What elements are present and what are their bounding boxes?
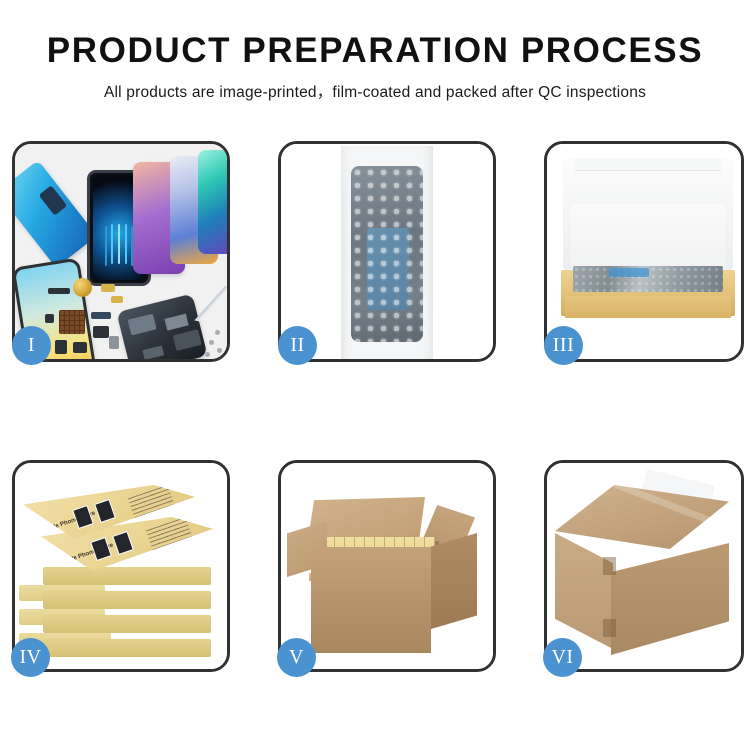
box-screen-swatch [90, 537, 112, 561]
mailer-front-panel-icon [565, 296, 731, 318]
phone-blue-back-icon [15, 160, 97, 268]
step-panel-carton-filled[interactable]: V [278, 460, 496, 672]
step-cell-3: III [544, 141, 744, 362]
carton-handle-tab-icon [603, 619, 616, 637]
page-subtitle: All products are image-printed，film-coat… [0, 80, 750, 102]
step-panel-bubble-wrap[interactable]: II [278, 141, 496, 362]
box-screen-swatch [94, 499, 116, 523]
carton-side-face-icon [431, 533, 477, 629]
chip-grid-part-icon [59, 310, 85, 334]
carton-right-face-icon [611, 543, 729, 655]
step-cell-6: VI [544, 460, 744, 672]
step-panel-carton-sealed[interactable]: VI [544, 460, 744, 672]
step-badge-1: I [12, 326, 51, 365]
box-screen-swatch [112, 531, 134, 555]
step-panel-inner-box[interactable]: III [544, 141, 744, 362]
screw-icon [215, 330, 220, 335]
spare-part-icon [45, 314, 54, 323]
carton-front-face-icon [311, 547, 431, 653]
page-title: PRODUCT PREPARATION PROCESS [0, 30, 750, 71]
spare-part-icon [111, 296, 123, 303]
spare-part-icon [101, 284, 115, 292]
step-panel-stacked-boxes[interactable]: Mobile Phone Spare Parts Mobile Phone Sp… [12, 460, 230, 672]
step-image-carton-sealed [547, 463, 741, 669]
step-image-stacked-boxes: Mobile Phone Spare Parts Mobile Phone Sp… [15, 463, 227, 669]
step-badge-4: IV [11, 638, 50, 677]
box-spec-lines [128, 485, 176, 523]
spare-part-icon [48, 288, 70, 294]
spare-part-icon [73, 342, 87, 353]
step-cell-5: V [278, 460, 496, 672]
step-badge-2: II [278, 326, 317, 365]
box-layer-icon [43, 591, 211, 609]
step-image-products [15, 144, 227, 359]
tweezers-icon [189, 280, 227, 327]
screw-icon [217, 348, 222, 353]
step-cell-2: II [278, 141, 496, 362]
box-stack-icon: Mobile Phone Spare Parts Mobile Phone Sp… [15, 463, 227, 669]
box-spec-lines [146, 517, 194, 555]
box-layer-icon [43, 615, 211, 633]
step-image-inner-box [547, 144, 741, 359]
step-panel-products[interactable]: I [12, 141, 230, 362]
blue-label-icon [609, 268, 649, 277]
step-cell-1: I [12, 141, 230, 362]
page-header: PRODUCT PREPARATION PROCESS All products… [0, 0, 750, 102]
box-layer-icon [43, 567, 211, 585]
step-badge-3: III [544, 326, 583, 365]
spare-part-icon [91, 312, 111, 319]
screw-icon [205, 352, 210, 357]
product-preparation-page: PRODUCT PREPARATION PROCESS All products… [0, 0, 750, 750]
box-layer-icon [43, 639, 211, 657]
spare-part-icon [55, 340, 67, 354]
step-cell-4: Mobile Phone Spare Parts Mobile Phone Sp… [12, 460, 230, 672]
carton-handle-tab-icon [603, 557, 616, 575]
gold-coil-part-icon [73, 278, 92, 297]
screw-icon [209, 340, 214, 345]
mailer-inner-wall-icon [571, 204, 725, 270]
plastic-sheen-icon [281, 144, 493, 359]
step-badge-5: V [277, 638, 316, 677]
phone-teal-icon [198, 150, 227, 254]
spare-part-icon [109, 336, 119, 349]
box-screen-swatch [72, 505, 94, 529]
step-image-carton-filled [281, 463, 493, 669]
step-badge-6: VI [543, 638, 582, 677]
process-step-grid: I II [12, 141, 746, 672]
spare-part-icon [93, 326, 109, 338]
step-image-bubble-wrap [281, 144, 493, 359]
